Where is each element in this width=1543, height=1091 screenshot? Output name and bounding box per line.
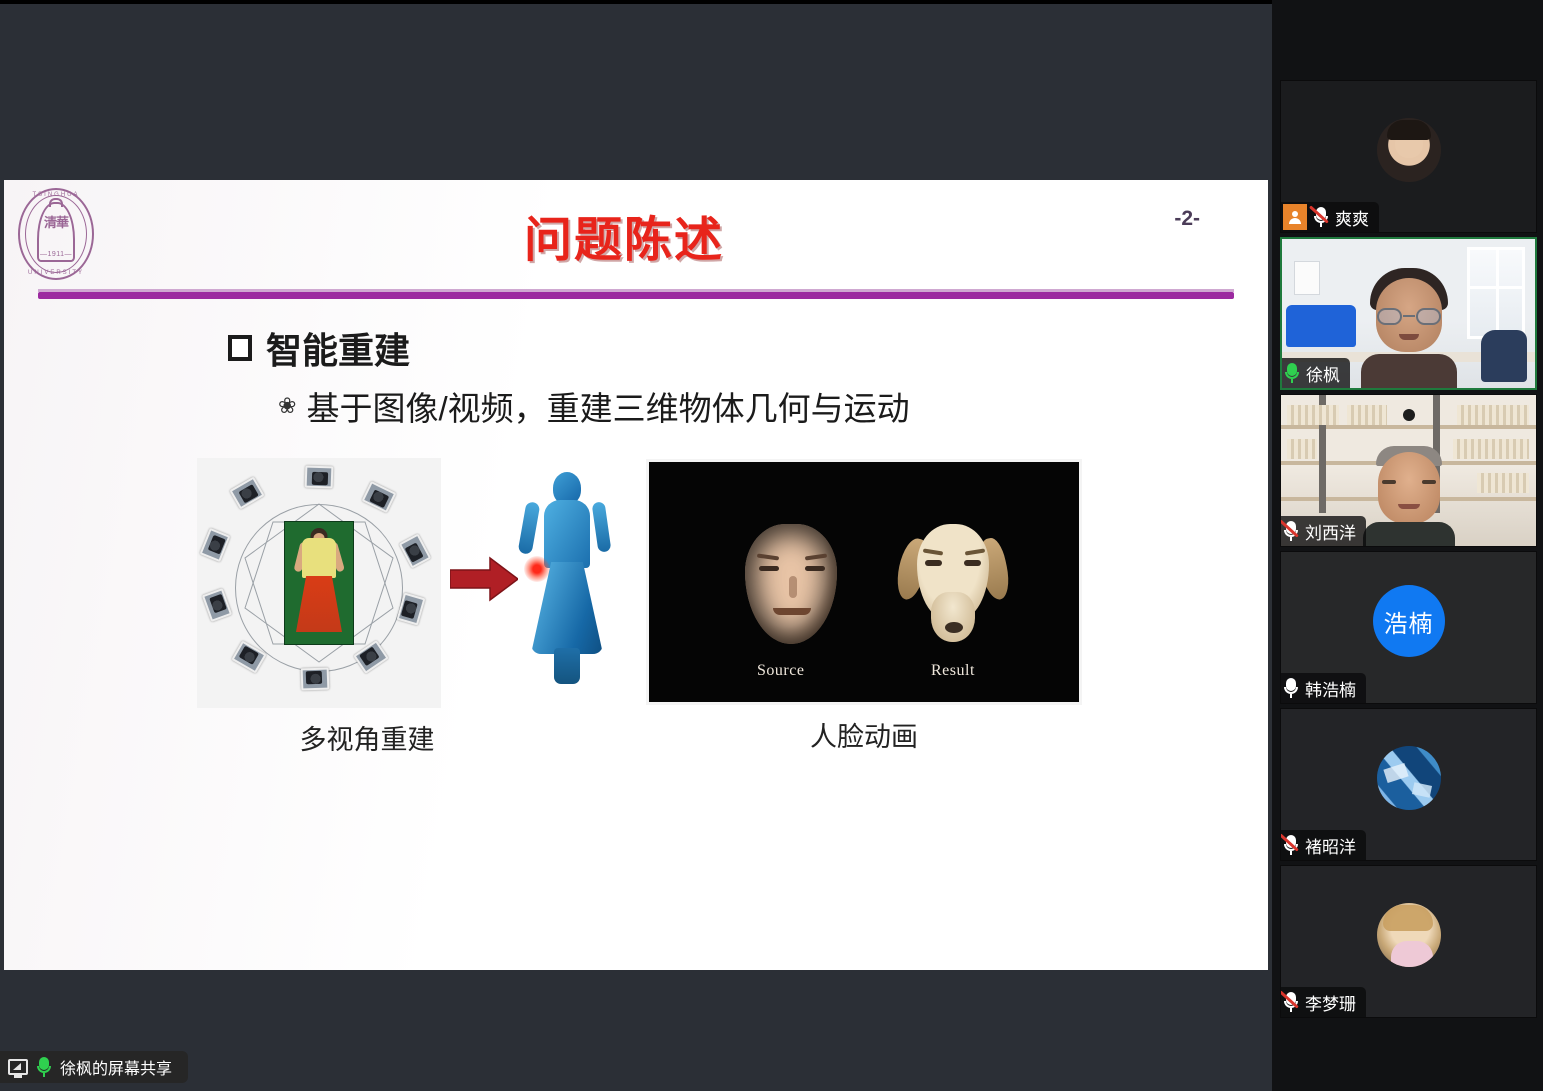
nameplate: 韩浩楠 <box>1281 673 1366 703</box>
nameplate: 徐枫 <box>1282 358 1350 388</box>
slide-divider-rule <box>38 292 1234 299</box>
screen-share-icon <box>8 1059 28 1075</box>
mic-idle-icon <box>1283 677 1299 699</box>
source-label: Source <box>757 662 804 680</box>
slide-bullet-level2-text: 基于图像/视频，重建三维物体几何与运动 <box>306 382 909 430</box>
mic-on-icon <box>36 1056 52 1078</box>
participant-name: 爽爽 <box>1335 205 1369 230</box>
slide-bullet-level1: 智能重建 <box>228 322 410 374</box>
nameplate: 爽爽 <box>1281 202 1379 232</box>
red-arrow-icon <box>450 556 518 602</box>
flower-bullet-icon: ❀ <box>278 395 296 417</box>
captured-subject-video <box>285 522 353 644</box>
reconstructed-3d-mesh <box>528 472 606 688</box>
meeting-window: TSINGHUA 清華 —1911— UNIVERSITY 问题陈述 -2- 智… <box>0 0 1543 1091</box>
participant-name: 韩浩楠 <box>1305 676 1356 701</box>
participant-tile-active-speaker[interactable]: 徐枫 <box>1280 237 1537 390</box>
stage-top-letterbox <box>0 0 1272 180</box>
participant-tile[interactable]: 浩楠 韩浩楠 <box>1280 551 1537 704</box>
camera-icon <box>305 466 334 489</box>
avatar-initials: 浩楠 <box>1373 585 1445 657</box>
multiview-rig-image <box>197 458 441 708</box>
slide-page-number: -2- <box>1174 207 1200 231</box>
participant-name: 刘西洋 <box>1305 519 1356 544</box>
mic-muted-icon <box>1283 520 1299 542</box>
participant-filmstrip[interactable]: 爽爽 <box>1272 0 1543 1091</box>
participant-tile[interactable]: 李梦珊 <box>1280 865 1537 1018</box>
avatar <box>1377 903 1441 967</box>
square-bullet-icon <box>228 335 252 361</box>
highlight-glow <box>524 556 550 582</box>
participant-tile[interactable]: 刘西洋 <box>1280 394 1537 547</box>
mic-muted-icon <box>1313 206 1329 228</box>
avatar <box>1377 746 1441 810</box>
screen-share-stage[interactable]: TSINGHUA 清華 —1911— UNIVERSITY 问题陈述 -2- 智… <box>0 0 1272 1091</box>
seal-hanzi: 清華 <box>44 212 68 231</box>
result-dog-face <box>899 518 1007 648</box>
figure-caption-face-animation: 人脸动画 <box>646 715 1082 754</box>
mic-muted-icon <box>1283 834 1299 856</box>
seal-arc-bottom: UNIVERSITY <box>20 270 92 276</box>
host-badge-icon <box>1283 204 1307 230</box>
tsinghua-university-seal-icon: TSINGHUA 清華 —1911— UNIVERSITY <box>18 188 94 280</box>
participant-tile[interactable]: 爽爽 <box>1280 80 1537 233</box>
participant-tile[interactable]: 褚昭洋 <box>1280 708 1537 861</box>
avatar-initials-text: 浩楠 <box>1384 604 1434 639</box>
camera-icon <box>301 668 330 691</box>
face-animation-image: Source Result <box>646 459 1082 705</box>
screen-share-label: 徐枫的屏幕共享 <box>60 1055 172 1079</box>
slide-bullet-level1-text: 智能重建 <box>266 322 410 374</box>
mic-muted-icon <box>1283 991 1299 1013</box>
result-label: Result <box>931 662 975 680</box>
source-human-face <box>745 524 837 644</box>
nameplate: 褚昭洋 <box>1281 830 1366 860</box>
mic-on-icon <box>1284 362 1300 384</box>
slide-title: 问题陈述 <box>524 200 724 270</box>
screen-share-indicator[interactable]: 徐枫的屏幕共享 <box>0 1051 188 1083</box>
avatar <box>1377 118 1441 182</box>
nameplate: 刘西洋 <box>1281 516 1366 546</box>
figure-caption-multiview: 多视角重建 <box>197 718 537 757</box>
participant-name: 褚昭洋 <box>1305 833 1356 858</box>
stage-bottom-letterbox <box>0 970 1272 1091</box>
nameplate: 李梦珊 <box>1281 987 1366 1017</box>
participant-name: 徐枫 <box>1306 361 1340 386</box>
participant-name: 李梦珊 <box>1305 990 1356 1015</box>
slide-bullet-level2: ❀ 基于图像/视频，重建三维物体几何与运动 <box>278 382 910 430</box>
seal-year: —1911— <box>40 251 72 258</box>
